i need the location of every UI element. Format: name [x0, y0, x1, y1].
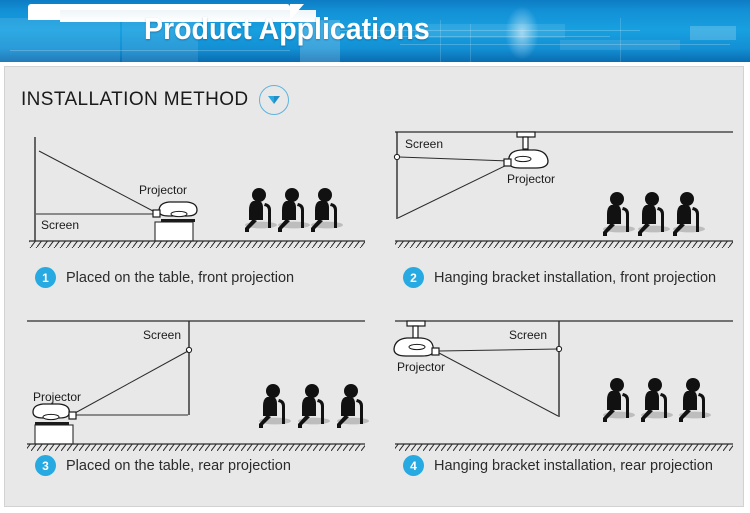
diagram-table-front-projection: Screen Projector — [13, 119, 381, 271]
panel-caption-2: 2 Hanging bracket installation, front pr… — [403, 267, 716, 288]
audience-group — [603, 192, 705, 236]
step-badge: 3 — [35, 455, 56, 476]
screen-label: Screen — [143, 328, 181, 342]
projector-label: Projector — [507, 172, 555, 186]
ceiling-bracket-icon — [407, 321, 425, 338]
ceiling-bracket-icon — [517, 132, 535, 149]
caption-text: Placed on the table, rear projection — [66, 458, 291, 474]
installation-panel-2: Screen Projector — [381, 119, 749, 313]
caption-text: Placed on the table, front projection — [66, 270, 294, 286]
caption-text: Hanging bracket installation, rear proje… — [434, 458, 713, 474]
screen-label: Screen — [41, 218, 79, 232]
projector-icon — [504, 150, 548, 168]
step-badge: 1 — [35, 267, 56, 288]
panel-caption-1: 1 Placed on the table, front projection — [35, 267, 294, 288]
audience-group — [259, 384, 369, 428]
screen-label: Screen — [405, 137, 443, 151]
caption-text: Hanging bracket installation, front proj… — [434, 270, 716, 286]
installation-panel-3: Screen Projector — [13, 307, 381, 501]
audience-group — [245, 188, 343, 232]
projector-label: Projector — [397, 360, 445, 374]
panel-caption-3: 3 Placed on the table, rear projection — [35, 455, 291, 476]
content-card: INSTALLATION METHOD — [4, 66, 744, 507]
step-badge: 4 — [403, 455, 424, 476]
chevron-down-icon[interactable] — [259, 85, 289, 115]
projector-icon — [33, 404, 76, 425]
projector-icon — [153, 202, 197, 222]
diagram-ceiling-rear-projection: Screen Projector — [381, 307, 749, 459]
installation-method-grid: Screen Projector — [5, 119, 745, 507]
page-banner: Product Applications — [0, 0, 750, 62]
diagram-ceiling-front-projection: Screen Projector — [381, 119, 749, 271]
diagram-table-rear-projection: Screen Projector — [13, 307, 381, 459]
installation-panel-1: Screen Projector — [13, 119, 381, 313]
installation-panel-4: Screen Projector — [381, 307, 749, 501]
section-title: INSTALLATION METHOD — [21, 89, 249, 111]
section-header: INSTALLATION METHOD — [21, 85, 289, 115]
projector-label: Projector — [139, 183, 187, 197]
screen-label: Screen — [509, 328, 547, 342]
panel-caption-4: 4 Hanging bracket installation, rear pro… — [403, 455, 713, 476]
projector-icon — [394, 338, 439, 356]
page-title: Product Applications — [144, 11, 430, 47]
projector-label: Projector — [33, 390, 81, 404]
audience-group — [603, 378, 711, 422]
step-badge: 2 — [403, 267, 424, 288]
